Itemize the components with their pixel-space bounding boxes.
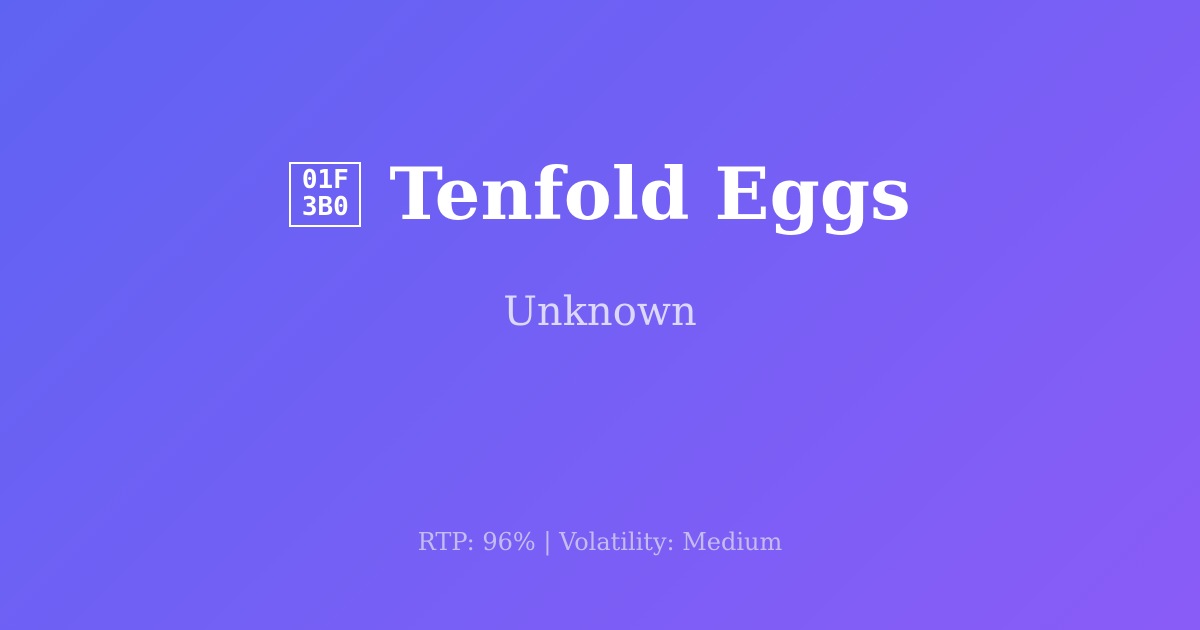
game-subtitle: Unknown	[503, 288, 697, 336]
slot-machine-icon: 01F 3B0	[289, 162, 361, 227]
codepoint-row-lower: 3B0	[302, 194, 349, 221]
codepoint-row-upper: 01F	[302, 167, 349, 194]
game-title: Tenfold Eggs	[389, 156, 910, 232]
game-meta-footer: RTP: 96% | Volatility: Medium	[0, 527, 1200, 557]
game-promo-card: 01F 3B0 Tenfold Eggs Unknown RTP: 96% | …	[0, 0, 1200, 630]
title-row: 01F 3B0 Tenfold Eggs	[289, 156, 910, 232]
card-hero: 01F 3B0 Tenfold Eggs Unknown	[0, 0, 1200, 492]
